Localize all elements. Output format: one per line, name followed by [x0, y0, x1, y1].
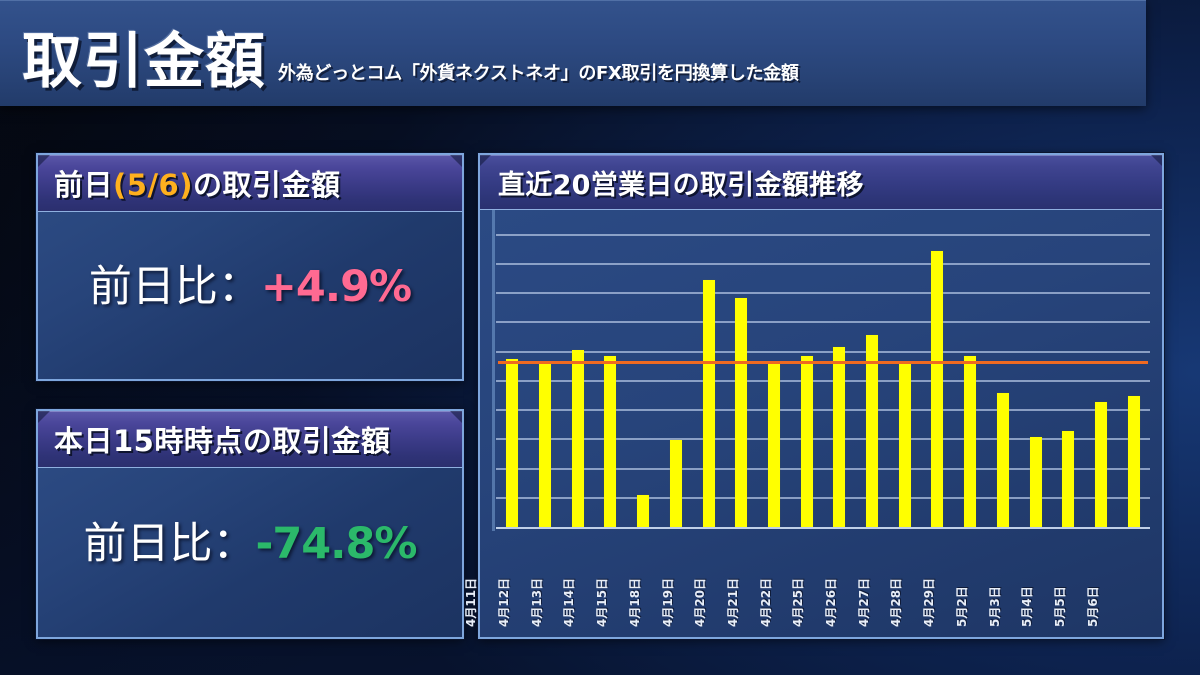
chart-canvas: [496, 226, 1150, 529]
card-today-15h-body: 前日比：-74.8%: [38, 468, 462, 637]
chart-bar: [670, 440, 682, 527]
chart-plot-area: 4月11日4月12日4月13日4月14日4月15日4月18日4月19日4月20日…: [480, 210, 1162, 637]
card-today-title-prefix: 本日15時時点の取引金額: [54, 424, 390, 458]
card-previous-day-metric: 前日比：+4.9%: [89, 252, 411, 314]
chart-bar: [899, 364, 911, 527]
metric-label-prev: 前日比：: [89, 262, 261, 312]
card-previous-day-header: 前日(5/6)の取引金額: [38, 155, 462, 212]
chart-bar: [1128, 396, 1140, 527]
chart-bar: [768, 364, 780, 527]
chart-bar: [637, 495, 649, 527]
chart-panel: 直近20営業日の取引金額推移 4月11日4月12日4月13日4月14日4月15日…: [478, 153, 1164, 639]
gridline: [496, 380, 1150, 382]
card-previous-day: 前日(5/6)の取引金額 前日比：+4.9%: [36, 153, 464, 381]
chart-y-axis: [492, 210, 495, 531]
chart-bar: [931, 251, 943, 527]
page-subtitle: 外為どっとコム「外貨ネクストネオ」のFX取引を円換算した金額: [278, 65, 799, 83]
card-today-15h-header: 本日15時時点の取引金額: [38, 411, 462, 468]
gridline: [496, 468, 1150, 470]
gridline: [496, 438, 1150, 440]
chart-x-axis-labels: 4月11日4月12日4月13日4月14日4月15日4月18日4月19日4月20日…: [496, 531, 1150, 627]
metric-value-prev: +4.9%: [261, 262, 411, 312]
chart-bar: [604, 356, 616, 527]
gridline: [496, 409, 1150, 411]
card-previous-day-body: 前日比：+4.9%: [38, 212, 462, 379]
title-bar: 取引金額 外為どっとコム「外貨ネクストネオ」のFX取引を円換算した金額: [0, 0, 1146, 106]
card-today-15h-metric: 前日比：-74.8%: [83, 509, 416, 571]
gridline: [496, 263, 1150, 265]
gridline: [496, 292, 1150, 294]
slide-root: 取引金額 外為どっとコム「外貨ネクストネオ」のFX取引を円換算した金額 前日(5…: [0, 0, 1200, 675]
gridline: [496, 497, 1150, 499]
chart-bar: [1030, 437, 1042, 527]
chart-panel-header: 直近20営業日の取引金額推移: [480, 155, 1162, 210]
chart-bar: [506, 359, 518, 527]
chart-bar: [833, 347, 845, 527]
metric-label-today: 前日比：: [83, 519, 255, 569]
gridline: [496, 234, 1150, 236]
card-previous-day-title: 前日(5/6)の取引金額: [54, 162, 341, 204]
card-prev-title-suffix: の取引金額: [193, 168, 341, 202]
page-title: 取引金額: [22, 33, 266, 92]
chart-bar: [801, 356, 813, 527]
chart-x-axis: [496, 527, 1150, 529]
chart-bar: [1095, 402, 1107, 527]
chart-bar: [997, 393, 1009, 527]
chart-bar: [735, 298, 747, 527]
chart-bar: [539, 362, 551, 527]
card-prev-title-prefix: 前日: [54, 168, 113, 202]
card-today-15h-title: 本日15時時点の取引金額: [54, 418, 390, 460]
x-axis-label: 5月6日: [1044, 531, 1140, 627]
chart-bar: [1062, 431, 1074, 527]
chart-average-line: [498, 361, 1148, 364]
chart-bar: [964, 356, 976, 527]
chart-title: 直近20営業日の取引金額推移: [498, 163, 864, 202]
chart-bar: [703, 280, 715, 527]
chart-bar: [572, 350, 584, 527]
metric-value-today: -74.8%: [255, 519, 416, 569]
gridline: [496, 321, 1150, 323]
gridline: [496, 351, 1150, 353]
card-prev-title-date: (5/6): [113, 168, 193, 202]
card-today-15h: 本日15時時点の取引金額 前日比：-74.8%: [36, 409, 464, 639]
